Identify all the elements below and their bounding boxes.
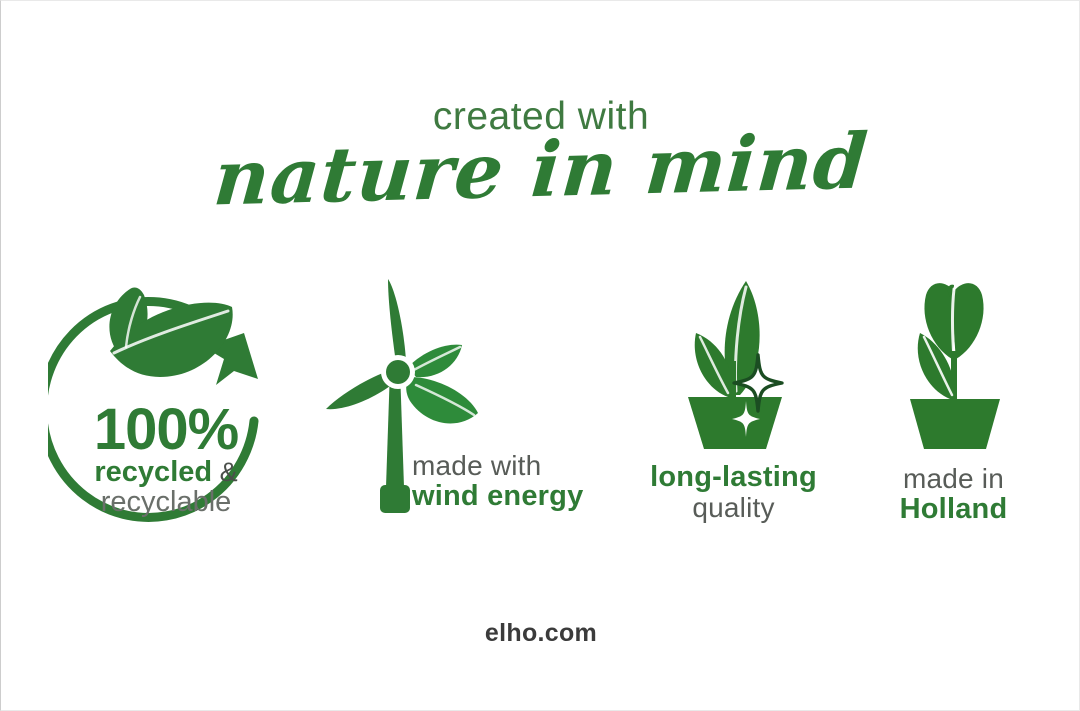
quality-label-line1: long-lasting — [650, 462, 817, 493]
wind-label-line1: made with — [412, 451, 602, 481]
badge-row: 100% recycled & recyclable — [41, 273, 1041, 543]
eco-claims-card: created with nature in mind — [0, 0, 1080, 711]
badge-long-lasting-quality: long-lasting quality — [626, 273, 841, 522]
badge-made-in-holland: made in Holland — [866, 273, 1041, 524]
headline: created with nature in mind — [1, 97, 1080, 210]
quality-label: long-lasting quality — [650, 462, 817, 522]
badge-recycled: 100% recycled & recyclable — [41, 273, 291, 540]
potted-plant-sparkle-icon — [654, 273, 814, 456]
wind-energy-label: made with wind energy — [412, 451, 602, 511]
wind-label-line2: wind energy — [412, 481, 602, 512]
quality-label-line2: quality — [650, 493, 817, 523]
footer: elho.com — [1, 619, 1080, 648]
svg-text:100%: 100% — [94, 397, 239, 462]
potted-tulip-icon — [884, 273, 1024, 456]
holland-label-line2: Holland — [900, 494, 1008, 525]
holland-label-line1: made in — [900, 464, 1008, 494]
website-link[interactable]: elho.com — [485, 619, 597, 647]
svg-text:recyclable: recyclable — [101, 486, 232, 518]
svg-text:recycled &: recycled & — [94, 456, 237, 488]
badge-wind-energy: made with wind energy — [316, 273, 601, 535]
holland-label: made in Holland — [900, 464, 1008, 524]
recycle-leaf-circle-icon: 100% recycled & recyclable — [48, 273, 284, 540]
